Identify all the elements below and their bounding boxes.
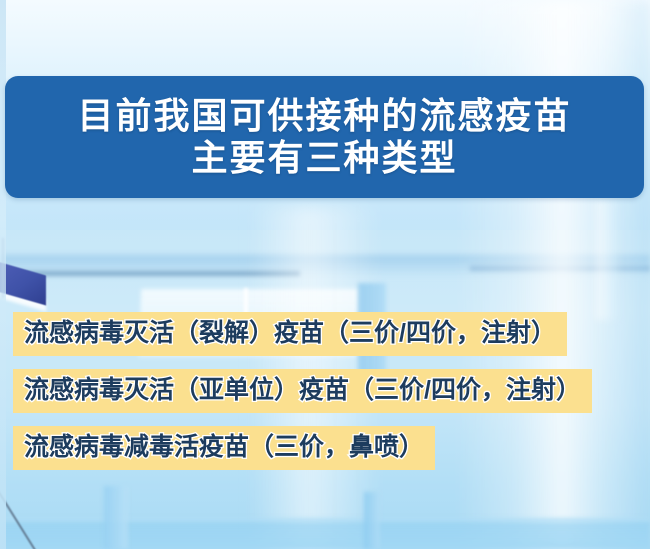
vaccine-row-2-label: 流感病毒灭活（亚单位）疫苗（三价/四价，注射） [24, 376, 581, 404]
background-post-left [104, 486, 128, 549]
vaccine-row-1-label: 流感病毒灭活（裂解）疫苗（三价/四价，注射） [24, 319, 556, 347]
title-banner: 目前我国可供接种的流感疫苗 主要有三种类型 [5, 76, 644, 198]
background-right-post [596, 200, 618, 320]
poster-root: 目前我国可供接种的流感疫苗 主要有三种类型 流感病毒灭活（裂解）疫苗（三价/四价… [0, 0, 650, 549]
title-line-2: 主要有三种类型 [191, 137, 457, 179]
vaccine-row-3-label: 流感病毒减毒活疫苗（三价，鼻喷） [24, 433, 424, 461]
vaccine-row-wrapper-2: 流感病毒灭活（亚单位）疫苗（三价/四价，注射） [0, 369, 650, 413]
vaccine-row-3: 流感病毒减毒活疫苗（三价，鼻喷） [13, 426, 435, 470]
vaccine-row-2: 流感病毒灭活（亚单位）疫苗（三价/四价，注射） [13, 369, 592, 413]
background-ground [0, 522, 650, 549]
vaccine-row-wrapper-3: 流感病毒减毒活疫苗（三价，鼻喷） [0, 426, 650, 470]
vaccine-row-1: 流感病毒灭活（裂解）疫苗（三价/四价，注射） [13, 312, 567, 356]
vaccine-type-list: 流感病毒灭活（裂解）疫苗（三价/四价，注射） 流感病毒灭活（亚单位）疫苗（三价/… [0, 312, 650, 470]
title-line-1: 目前我国可供接种的流感疫苗 [77, 95, 571, 137]
vaccine-row-wrapper-1: 流感病毒灭活（裂解）疫苗（三价/四价，注射） [0, 312, 650, 356]
background-post-center [364, 492, 380, 549]
